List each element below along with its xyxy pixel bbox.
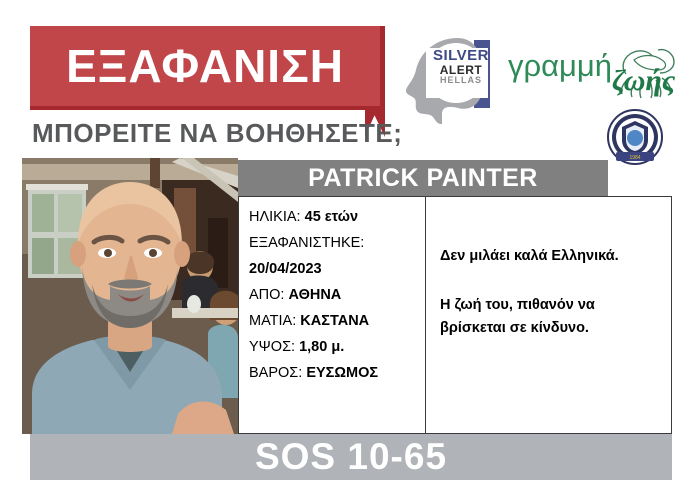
alert-headline-text: ΕΞΑΦΑΝΙΣΗ [66, 43, 344, 89]
detail-value-eyes: ΚΑΣΤΑΝΑ [300, 313, 369, 329]
detail-row-weight: ΒΑΡΟΣ: ΕΥΣΩΜΟΣ [249, 360, 425, 386]
detail-row-date: 20/04/2023 [249, 256, 425, 282]
police-badge-icon: 1984 [604, 108, 666, 170]
detail-row-disappeared: ΕΞΑΦΑΝΙΣΤΗΚΕ: [249, 230, 425, 256]
detail-label-eyes: ΜΑΤΙΑ: [249, 313, 296, 329]
silver-alert-line1: SILVER [424, 48, 498, 64]
detail-value-from: ΑΘΗΝΑ [288, 287, 341, 303]
note-danger-line2: βρίσκεται σε κίνδυνο. [440, 317, 659, 340]
police-badge-logo: 1984 [604, 108, 666, 170]
alert-headline-banner: ΕΞΑΦΑΝΙΣΗ [30, 26, 385, 110]
hotline-banner: SOS 10-65 [30, 434, 672, 480]
detail-label-height: ΥΨΟΣ: [249, 339, 295, 355]
grammi-zois-word2: ζωής [612, 64, 675, 98]
missing-person-photo [22, 158, 238, 434]
person-name-bar: PATRICK PAINTER [238, 160, 608, 196]
help-question-text: ΜΠΟΡΕΙΤΕ ΝΑ ΒΟΗΘΗΣΕΤΕ; [32, 118, 402, 149]
detail-label-weight: ΒΑΡΟΣ: [249, 365, 302, 381]
note-language: Δεν μιλάει καλά Ελληνικά. [440, 245, 659, 268]
grammi-zois-word1: γραμμή [508, 48, 612, 84]
photo-illustration [22, 158, 238, 434]
grammi-zois-logo: γραμμή ζωής [508, 40, 688, 112]
detail-row-eyes: ΜΑΤΙΑ: ΚΑΣΤΑΝΑ [249, 308, 425, 334]
silver-alert-wordmark: SILVER ALERT HELLAS [424, 48, 498, 86]
detail-value-height: 1,80 μ. [299, 339, 344, 355]
details-column: ΗΛΙΚΙΑ: 45 ετών ΕΞΑΦΑΝΙΣΤΗΚΕ: 20/04/2023… [239, 197, 426, 433]
detail-label-disappeared: ΕΞΑΦΑΝΙΣΤΗΚΕ: [249, 235, 364, 251]
detail-value-weight: ΕΥΣΩΜΟΣ [306, 365, 378, 381]
silver-alert-logo: SILVER ALERT HELLAS [406, 28, 504, 128]
silver-alert-line3: HELLAS [424, 76, 498, 85]
details-table: ΗΛΙΚΙΑ: 45 ετών ΕΞΑΦΑΝΙΣΤΗΚΕ: 20/04/2023… [238, 196, 672, 434]
hotline-number-text: SOS 10-65 [255, 436, 447, 478]
detail-value-age: 45 ετών [305, 209, 358, 225]
svg-text:1984: 1984 [629, 155, 640, 161]
detail-row-height: ΥΨΟΣ: 1,80 μ. [249, 334, 425, 360]
note-danger-line1: Η ζωή του, πιθανόν να [440, 294, 659, 317]
detail-label-from: ΑΠΟ: [249, 287, 284, 303]
detail-row-from: ΑΠΟ: ΑΘΗΝΑ [249, 282, 425, 308]
missing-person-poster: ΕΞΑΦΑΝΙΣΗ ΜΠΟΡΕΙΤΕ ΝΑ ΒΟΗΘΗΣΕΤΕ; SILVER … [0, 0, 696, 492]
detail-value-date: 20/04/2023 [249, 261, 322, 277]
detail-row-age: ΗΛΙΚΙΑ: 45 ετών [249, 204, 425, 230]
notes-column: Δεν μιλάει καλά Ελληνικά. Η ζωή του, πιθ… [426, 197, 671, 433]
person-name-text: PATRICK PAINTER [308, 164, 538, 193]
detail-label-age: ΗΛΙΚΙΑ: [249, 209, 301, 225]
